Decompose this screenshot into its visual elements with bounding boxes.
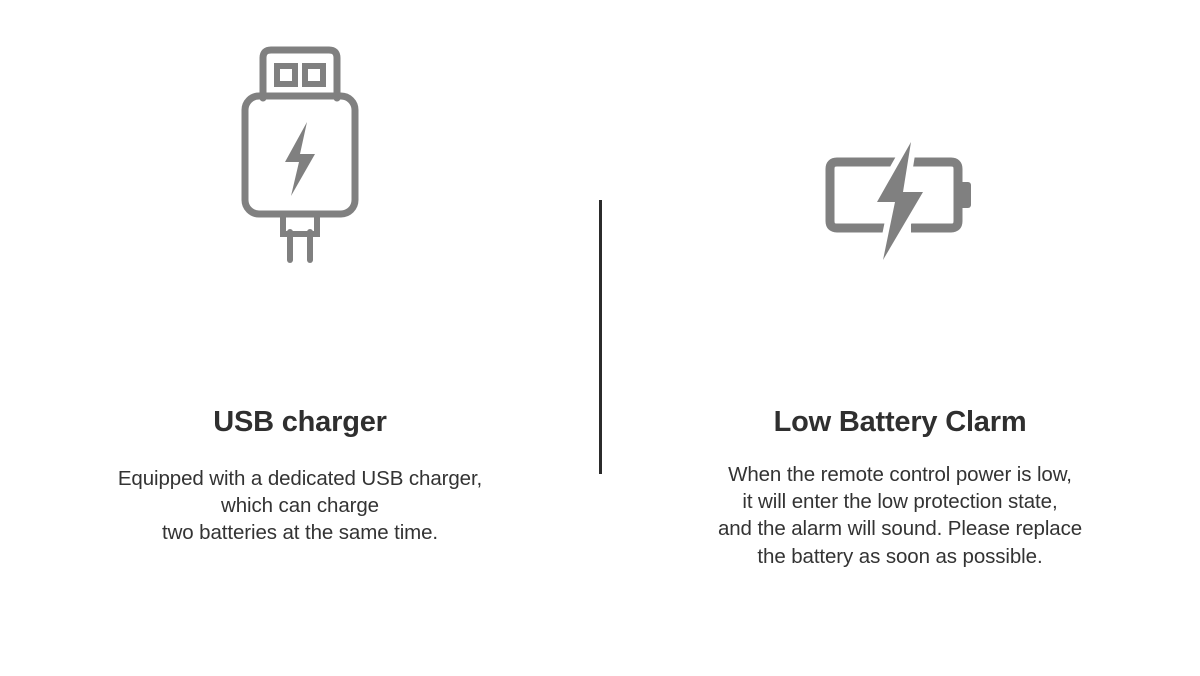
low-battery-charging-icon [825,140,975,270]
usb-charger-icon-zone [0,0,600,300]
panel-low-battery-alarm: Low Battery Clarm When the remote contro… [600,0,1200,676]
panel-usb-charger: USB charger Equipped with a dedicated US… [0,0,600,676]
feature-panels-page: USB charger Equipped with a dedicated US… [0,0,1200,676]
panel-description: Equipped with a dedicated USB charger, w… [118,465,482,547]
panel-description: When the remote control power is low, it… [718,461,1082,570]
panel-title: Low Battery Clarm [774,407,1027,439]
vertical-divider [599,200,602,474]
low-battery-icon-zone [600,0,1200,300]
panel-title: USB charger [213,407,386,439]
usb-charger-icon [235,36,365,266]
